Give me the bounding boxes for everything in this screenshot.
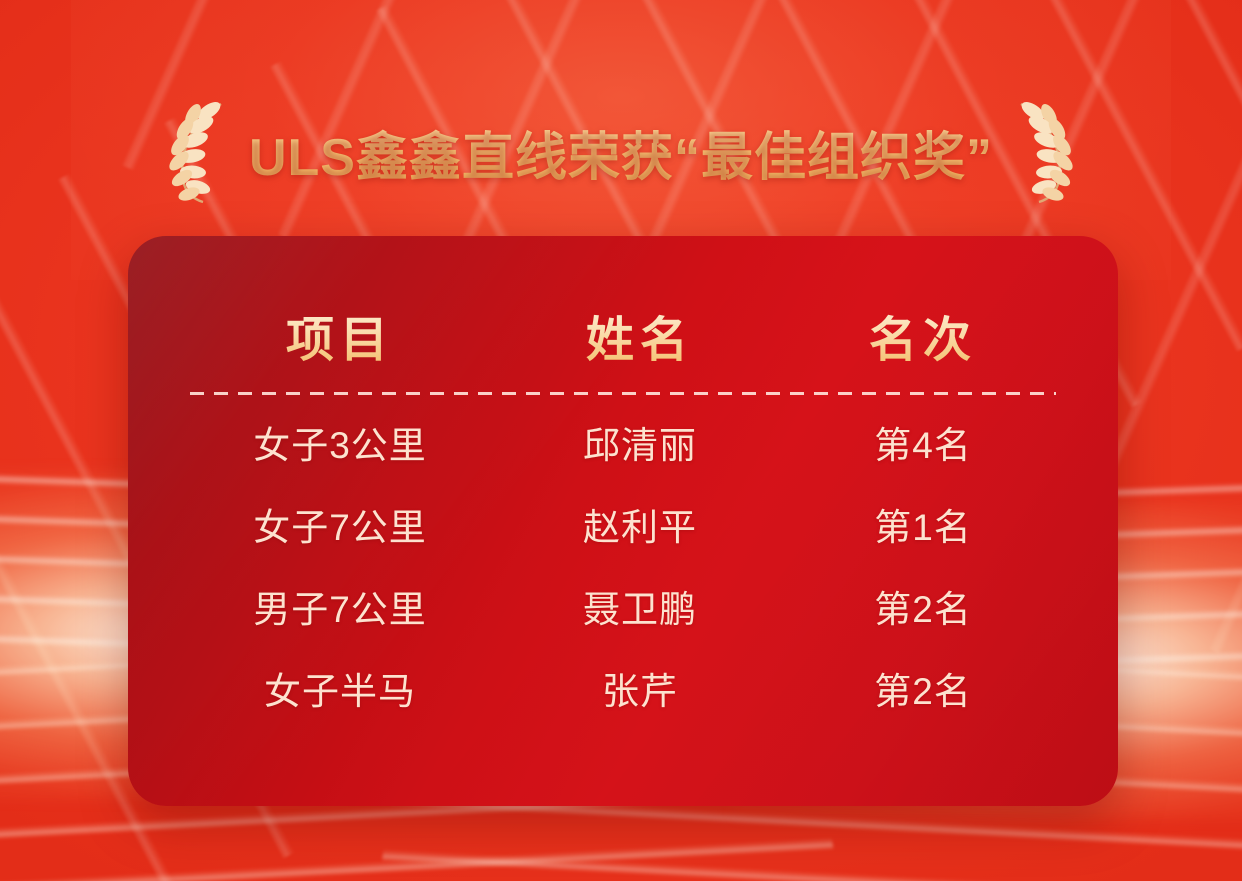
results-card: 项目 姓名 名次 女子3公里 邱清丽 第4名 女子7公里 赵利平 第1名 男子7… — [128, 236, 1118, 806]
table-row: 女子半马 张芹 第2名 — [190, 647, 1056, 729]
table-row: 女子7公里 赵利平 第1名 — [190, 483, 1056, 565]
table-row: 女子3公里 邱清丽 第4名 — [190, 401, 1056, 483]
cell-rank: 第2名 — [790, 579, 1056, 633]
cell-name: 聂卫鹏 — [490, 579, 790, 633]
results-table: 项目 姓名 名次 女子3公里 邱清丽 第4名 女子7公里 赵利平 第1名 男子7… — [128, 236, 1118, 806]
column-header-name: 姓名 — [490, 300, 790, 370]
cell-name: 赵利平 — [490, 497, 790, 551]
page-title: ULS鑫鑫直线荣获“最佳组织奖” — [249, 115, 993, 190]
column-header-event: 项目 — [190, 300, 490, 370]
cell-rank: 第1名 — [790, 497, 1056, 551]
laurel-branch-icon — [163, 98, 235, 206]
cell-rank: 第2名 — [790, 661, 1056, 715]
cell-event: 男子7公里 — [190, 579, 490, 633]
cell-name: 邱清丽 — [490, 415, 790, 469]
award-poster: ULS鑫鑫直线荣获“最佳组织奖” 项目 — [0, 0, 1242, 881]
cell-rank: 第4名 — [790, 415, 1056, 469]
laurel-branch-icon — [1007, 98, 1079, 206]
cell-name: 张芹 — [490, 661, 790, 715]
cell-event: 女子半马 — [190, 661, 490, 715]
cell-event: 女子7公里 — [190, 497, 490, 551]
table-row: 男子7公里 聂卫鹏 第2名 — [190, 565, 1056, 647]
table-header-row: 项目 姓名 名次 — [190, 296, 1056, 370]
cell-event: 女子3公里 — [190, 415, 490, 469]
table-body: 女子3公里 邱清丽 第4名 女子7公里 赵利平 第1名 男子7公里 聂卫鹏 第2… — [190, 395, 1056, 766]
column-header-rank: 名次 — [790, 300, 1056, 370]
poster-title-row: ULS鑫鑫直线荣获“最佳组织奖” — [0, 96, 1242, 208]
